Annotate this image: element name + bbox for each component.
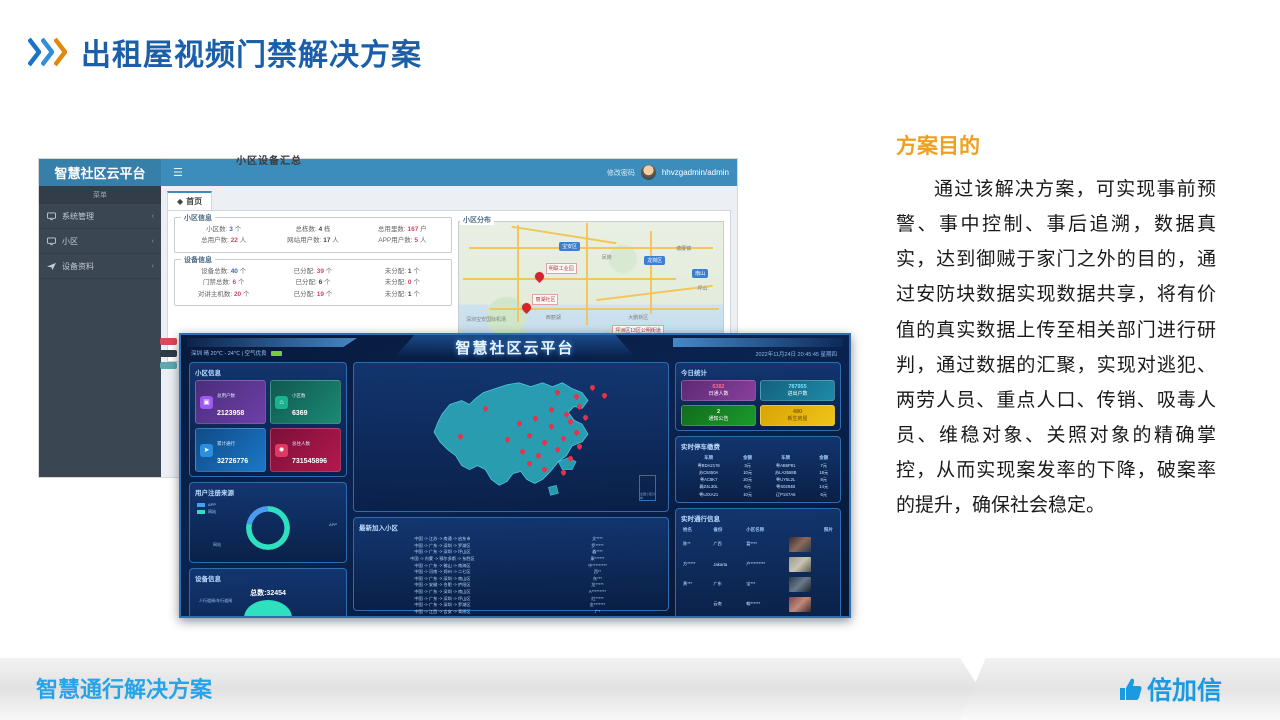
legend-label: APP [208,502,216,507]
stat-cell: 设备总数: 40 个 [179,266,268,277]
table-header-row: 姓名 省份 小区名称 照片 [681,526,835,534]
today-tile-new-houses[interactable]: 480 新生房屋 [760,405,835,426]
list-item: 中国 -> 河南 -> 郑州 -> 二七区 [359,569,526,576]
cell-amount: 20元 [736,477,759,484]
stat-unit: 个 [413,291,420,298]
list-item: 中国 -> 广东 -> 深圳 -> 南山区 [359,589,526,596]
sidebar-item-community[interactable]: 小区 ‹ [39,229,161,254]
change-password-link[interactable]: 修改密码 [607,168,635,178]
chevron-group-icon [28,37,67,67]
tile-value: 6382 [684,384,753,391]
column-header: 省份 [711,526,744,534]
stat-key: APP用户数: [378,237,412,244]
admin-brand: 智慧社区云平台 [39,159,161,186]
table-row: 粤AC8K7 20元 粤UY5L2L 8元 [681,477,835,484]
passage-info-card: 实时通行信息 姓名 省份 小区名称 照片 陈** 广西 富**** [675,508,841,618]
weather-text: 深圳 晴 20℃ - 24℃ | 空气优良 [191,349,267,357]
thumbs-up-icon [1117,676,1143,702]
geo-label: 塘厦镇 [676,245,691,252]
tile-value: 787955 [763,384,832,391]
passage-thumbnail[interactable] [789,597,811,612]
cell-name: 陈** [681,534,711,554]
passage-thumbnail[interactable] [789,577,811,592]
card-title: 小区信息 [195,367,341,377]
stat-unit: 个 [238,279,245,286]
cell-amount: 3元 [736,462,759,469]
geo-label: 大鹏新区 [628,314,648,321]
stat-label: 总住人数 [292,441,310,446]
stat-unit: 人 [332,237,339,244]
parking-payment-card: 实时停车缴费 车牌 金额 车牌 金额 粤BDA2176 3元 粤AB6P81 7… [675,436,841,503]
stat-cell: 门禁总数: 6 个 [179,277,268,288]
stat-value: 39 [317,268,324,275]
stat-unit: 人 [420,237,427,244]
stat-label: 总用户数 [217,393,235,398]
table-row: 方***** Jakarta 户********* [681,554,835,574]
monitor-icon [47,212,56,221]
brand-name: 倍加信 [1147,671,1222,707]
list-item: 中国 -> 江苏 -> 南通 -> 启东市 [359,536,526,543]
diamond-icon: ◆ [177,197,183,206]
stat-value: 40 [231,268,238,275]
device-info-grid: 设备总数: 40 个 已分配: 39 个 未分配: 1 [179,266,447,300]
stat-cell: 已分配: 39 个 [268,266,357,277]
stat-cell: 总栋数: 4 栋 [268,224,357,235]
list-item: 中********* [532,563,663,570]
brand-logo: 倍加信 [1117,671,1222,707]
stat-cell: 网站用户数: 17 人 [268,235,357,246]
cell-photo[interactable] [787,574,835,594]
stat-unit: 个 [235,226,242,233]
stat-value: 32726776 [217,458,248,465]
stat-cell: 小区数: 3 个 [179,224,268,235]
stat-unit: 个 [413,268,420,275]
device-info-panel: 设备信息 设备总数: 40 个 已分配: 39 个 [174,259,452,306]
stat-value: 1 [408,268,412,275]
cell-name [681,594,711,614]
monitor-icon [47,237,56,246]
cell-province: 广西 [711,534,744,554]
dashboard-header: 智慧社区云平台 深圳 晴 20℃ - 24℃ | 空气优良 2022年11月24… [181,335,849,362]
cell-province: 云南 [711,594,744,614]
chevron-right-icon-3 [54,37,67,67]
stat-cell: 未分配: 0 个 [358,277,447,288]
list-item: 文**** [532,536,663,543]
objective-heading: 方案目的 [896,130,1216,160]
district-label: 龙岗区 [644,256,665,265]
cell-amount: 18元 [812,469,835,476]
stat-cell: 已分配: 19 个 [268,289,357,300]
community-info-grid: 小区数: 3 个 总栋数: 4 栋 总用里数: 167 [179,224,447,247]
stat-cell: APP用户数: 5 人 [358,235,447,246]
stat-tile-total-users[interactable]: ▣ 总用户数 2123958 [195,380,266,424]
china-map-card[interactable]: 全国小区分布 [353,362,669,512]
column-header: 小区名称 [744,526,786,534]
map-marker-label: 丽湖社区 [532,294,558,305]
sidebar-item-label: 小区 [62,236,78,247]
new-communities-paths: 中国 -> 江苏 -> 南通 -> 启东市 中国 -> 广东 -> 深圳 -> … [359,536,526,616]
card-title: 最新加入小区 [359,522,663,532]
admin-sidebar: 菜单 系统管理 ‹ 小区 ‹ [39,186,161,478]
sidebar-item-label: 设备资料 [62,261,94,272]
cell-community: 翰****** [744,594,786,614]
stat-tile-passages[interactable]: ➤ 累计通行 32726776 [195,428,266,472]
stat-key: 小区数: [206,226,227,233]
stat-unit: 个 [324,279,331,286]
device-info-card: 设备信息 总数:32454 人行道闸/车行道闸 对讲主机/门禁机 [189,568,347,618]
stat-tile-residents[interactable]: ✹ 总住人数 731545896 [270,428,341,472]
column-header: 照片 [787,526,835,534]
map-marker-label: 明联工业园 [546,263,577,274]
donut-slice-label-web: 网站 [213,542,221,548]
people-icon: ✹ [275,444,288,457]
map-marker[interactable] [520,301,533,314]
register-source-card: 用户注册来源 APP 网站 APP 网站 [189,482,347,563]
cell-community: 户********* [744,554,786,574]
stat-value: 731545896 [292,458,327,465]
stat-key: 已分配: [294,268,315,275]
cell-amount: 10元 [736,469,759,476]
cell-community: 鑫****** [744,614,786,618]
legend-label: 网站 [208,509,216,515]
stat-value: 2123958 [217,410,244,417]
geo-label: 西丽湖 [546,314,561,321]
stat-value: 0 [408,279,412,286]
stat-value: 20 [234,291,241,298]
cell-amount: 6元 [736,484,759,491]
card-title: 实时停车缴费 [681,441,835,451]
community-info-legend: 小区信息 [181,213,215,223]
cell-plate: 苏LA3558B [759,469,813,476]
air-quality-badge [271,351,282,356]
table-row: 粤L0XA21 10元 辽P1S7A5 6元 [681,491,835,498]
cell-amount: 14元 [812,484,835,491]
stat-cell: 已分配: 6 个 [268,277,357,288]
stat-label: 小区数 [292,393,306,398]
stat-value: 3 [229,226,233,233]
stat-key: 设备总数: [201,268,229,275]
community-stat-grid: ▣ 总用户数 2123958 ⌂ 小区数 6369 [195,380,341,472]
cell-plate: 粤L0XA21 [681,491,736,498]
sidebar-item-system[interactable]: 系统管理 ‹ [39,204,161,229]
weather-widget: 深圳 晴 20℃ - 24℃ | 空气优良 [191,349,282,357]
column-header: 金额 [736,454,759,462]
tile-label: 新生房屋 [763,416,832,423]
donut-legend: APP 网站 [197,502,216,517]
cell-plate: 粤AC8K7 [681,477,736,484]
stat-label: 累计通行 [217,441,235,446]
stat-tile-communities[interactable]: ⌂ 小区数 6369 [270,380,341,424]
stat-key: 已分配: [294,291,315,298]
stat-key: 未分配: [385,268,406,275]
stat-unit: 人 [240,237,247,244]
table-row: 云南 翰****** [681,594,835,614]
column-header: 金额 [812,454,835,462]
stat-cell: 对讲主机数: 20 个 [179,289,268,300]
legend-chip-dark [160,350,177,357]
section-subtitle: 小区设备汇总 [236,152,302,167]
user-name[interactable]: hhvzgadmin/admin [662,168,729,177]
stat-value: 6369 [292,410,308,417]
stat-key: 总用里数: [378,226,406,233]
cell-photo[interactable] [787,594,835,614]
cell-photo[interactable] [787,614,835,618]
send-icon: ➤ [200,444,213,457]
stat-value: 5 [414,237,418,244]
page-title: 出租屋视频门禁解决方案 [81,30,422,74]
tab-home-label: 首页 [186,196,202,207]
community-info-card: 小区信息 ▣ 总用户数 2123958 ⌂ 小区数 6369 [189,362,347,477]
card-title: 实时通行信息 [681,513,835,523]
table-row: 苏C8450A 10元 苏LA3558B 18元 [681,469,835,476]
list-item: 中国 -> 江西 -> 吉安 -> 青原区 [359,609,526,616]
tile-value: 480 [763,409,832,416]
dashboard-right-column: 今日统计 6382 日通人数 787955 进出户数 2 通知公告 [675,362,841,611]
map-inset: 全国小区分布 [639,475,656,501]
stat-value: 22 [231,237,238,244]
stat-key: 未分配: [385,279,406,286]
stat-value: 6 [319,279,323,286]
send-icon [47,262,56,271]
cell-plate: 辽P1S7A5 [759,491,813,498]
tab-home[interactable]: ◆ 首页 [167,191,212,210]
tile-label: 通知公告 [684,416,753,423]
cell-photo[interactable] [787,554,835,574]
sidebar-item-device-data[interactable]: 设备资料 ‹ [39,254,161,279]
cell-amount: 7元 [812,462,835,469]
device-info-legend: 设备信息 [181,255,215,265]
cell-amount: 8元 [812,477,835,484]
stat-key: 总栋数: [295,226,316,233]
chevron-left-icon: ‹ [152,263,154,270]
cell-plate: 赣Z4L30L [681,484,736,491]
table-header-row: 车牌 金额 车牌 金额 [681,454,835,462]
new-communities-card: 最新加入小区 中国 -> 江苏 -> 南通 -> 启东市 中国 -> 广东 ->… [353,517,669,611]
cell-plate: 粤UY5L2L [759,477,813,484]
stat-cell: 总用户数: 22 人 [179,235,268,246]
stat-unit: 个 [240,268,247,275]
slide-footer: 智慧通行解决方案 倍加信 [0,658,1280,720]
stat-value: 19 [317,291,324,298]
register-source-donut: APP 网站 APP 网站 [195,500,341,558]
legend-chip-red [160,338,177,345]
pie-chart [244,600,292,618]
column-header: 姓名 [681,526,711,534]
column-header: 车牌 [759,454,813,462]
tile-label: 进出户数 [763,391,832,398]
objective-body: 通过该解决方案，可实现事前预警、事中控制、事后追溯，数据真实，达到御贼于家门之外… [896,172,1216,523]
stat-unit: 个 [326,268,333,275]
cell-name: 方***** [681,554,711,574]
stat-key: 总用户数: [201,237,229,244]
legend-chip-teal [160,362,177,369]
list-item: A********* [532,589,663,596]
today-stats-card: 今日统计 6382 日通人数 787955 进出户数 2 通知公告 [675,362,841,431]
today-tile-notices[interactable]: 2 通知公告 [681,405,756,426]
admin-user-area[interactable]: 修改密码 hhvzgadmin/admin [607,165,729,180]
stat-cell: 总用里数: 167 户 [358,224,447,235]
stat-value: 4 [319,226,323,233]
stat-unit: 个 [326,291,333,298]
device-total-label: 总数:32454 [250,588,286,598]
legend-item: APP [197,502,216,507]
community-info-panel: 小区信息 小区数: 3 个 总栋数: 4 栋 [174,217,452,253]
cell-province: Jakarta [711,554,744,574]
card-title: 设备信息 [195,573,341,583]
district-label: 南山 [692,269,708,278]
home-icon: ⌂ [275,396,288,409]
stat-unit: 户 [420,226,427,233]
cell-plate: 粤S0294B [759,484,813,491]
list-item: 中国 -> 广东 -> 深圳 -> 坪山区 [359,549,526,556]
map-marker[interactable] [533,270,546,283]
table-row: 陈** 广西 富**** [681,534,835,554]
device-pie-chart: 总数:32454 人行道闸/车行道闸 对讲主机/门禁机 [195,586,341,618]
column-header: 车牌 [681,454,736,462]
sidebar-item-label: 系统管理 [62,211,94,222]
stat-key: 对讲主机数: [198,291,232,298]
card-title: 今日统计 [681,367,835,377]
cell-name: 黄*** [681,574,711,594]
dashboard-center-column: 全国小区分布 最新加入小区 中国 -> 江苏 -> 南通 -> 启东市 中国 -… [353,362,669,611]
passage-table: 姓名 省份 小区名称 照片 陈** 广西 富**** 方***** Jakart… [681,526,835,618]
stat-value: 6 [233,279,237,286]
geo-label: 深圳宝安国际机场 [466,316,506,323]
cell-name: 曾** [681,614,711,618]
cell-community: 富**** [744,534,786,554]
pie-slice-label-secondary: 人行道闸/车行道闸 [199,598,232,604]
cell-amount: 6元 [812,491,835,498]
cell-plate: 苏C8450A [681,469,736,476]
geo-label: 凤岗 [602,254,612,261]
donut-chart [246,506,290,550]
passage-thumbnail[interactable] [789,617,811,618]
card-title: 用户注册来源 [195,487,341,497]
stat-value: 17 [323,237,330,244]
dashboard-left-column: 小区信息 ▣ 总用户数 2123958 ⌂ 小区数 6369 [189,362,347,611]
chevron-right-icon-1 [28,37,41,67]
passage-thumbnail[interactable] [789,537,811,552]
table-row: 黄*** 广东 宝*** [681,574,835,594]
list-item: 鑫**** [532,549,663,556]
cell-plate: 粤AB6P81 [759,462,813,469]
dashboard-body: 小区信息 ▣ 总用户数 2123958 ⌂ 小区数 6369 [181,362,849,617]
admin-topbar: 智慧社区云平台 ☰ 修改密码 hhvzgadmin/admin [39,159,737,186]
today-tile-visitors[interactable]: 6382 日通人数 [681,380,756,401]
stat-cell: 未分配: 1 个 [358,266,447,277]
cell-plate: 粤BDA2176 [681,462,736,469]
new-communities-names: 文**** 罗***** 鑫**** 康****** 中********* 西*… [532,536,663,616]
cell-province: 江苏 [711,614,744,618]
objective-section: 方案目的 通过该解决方案，可实现事前预警、事中控制、事后追溯，数据真实，达到御贼… [896,130,1216,523]
bi-dashboard-screenshot: 智慧社区云平台 深圳 晴 20℃ - 24℃ | 空气优良 2022年11月24… [179,333,851,618]
tile-value: 2 [684,409,753,416]
avatar [641,165,656,180]
legend-item: 网站 [197,509,216,515]
hamburger-icon[interactable]: ☰ [173,166,182,179]
list-item: 广* [532,609,663,616]
today-tile-households[interactable]: 787955 进出户数 [760,380,835,401]
chevron-left-icon: ‹ [152,213,154,220]
tile-label: 日通人数 [684,391,753,398]
list-item: 康****** [532,556,663,563]
list-item: 龙***** [532,582,663,589]
cell-province: 广东 [711,574,744,594]
stat-unit: 个 [413,279,420,286]
geo-label: 坪山 [697,285,707,292]
table-row: 粤BDA2176 3元 粤AB6P81 7元 [681,462,835,469]
stat-key: 门禁总数: [203,279,231,286]
stat-unit: 个 [243,291,250,298]
list-item: 中国 -> 内蒙 -> 鄂尔多斯 -> 东胜区 [359,556,526,563]
legend-chip-group [160,338,177,374]
datetime-display: 2022年11月24日 20:45:45 星期四 [755,350,837,358]
stat-value: 167 [408,226,419,233]
footer-solution-label: 智慧通行解决方案 [36,672,212,704]
slide-header: 出租屋视频门禁解决方案 [28,30,422,74]
stat-unit: 栋 [324,226,331,233]
chevron-right-icon-2 [41,37,54,67]
china-map[interactable]: 全国小区分布 [354,363,668,511]
sidebar-header: 菜单 [39,186,161,204]
today-stats-tiles: 6382 日通人数 787955 进出户数 2 通知公告 480 新生房屋 [681,380,835,426]
table-row: 赣Z4L30L 6元 粤S0294B 14元 [681,484,835,491]
map-legend: 小区分布 [460,215,494,225]
stat-key: 已分配: [295,279,316,286]
new-communities-body: 中国 -> 江苏 -> 南通 -> 启东市 中国 -> 广东 -> 深圳 -> … [359,535,663,616]
chevron-left-icon: ‹ [152,238,154,245]
building-icon: ▣ [200,396,213,409]
cell-amount: 10元 [736,491,759,498]
passage-thumbnail[interactable] [789,557,811,572]
district-label: 宝安区 [559,242,580,251]
stat-key: 未分配: [385,291,406,298]
cell-community: 宝*** [744,574,786,594]
stat-value: 1 [408,291,412,298]
china-map-shape [354,363,668,511]
stat-cell: 未分配: 1 个 [358,289,447,300]
stat-key: 网站用户数: [287,237,321,244]
table-row: 曾** 江苏 鑫****** [681,614,835,618]
list-item: 西** [532,569,663,576]
donut-slice-label-app: APP [329,522,337,527]
parking-table: 车牌 金额 车牌 金额 粤BDA2176 3元 粤AB6P81 7元 苏C845… [681,454,835,498]
cell-photo[interactable] [787,534,835,554]
